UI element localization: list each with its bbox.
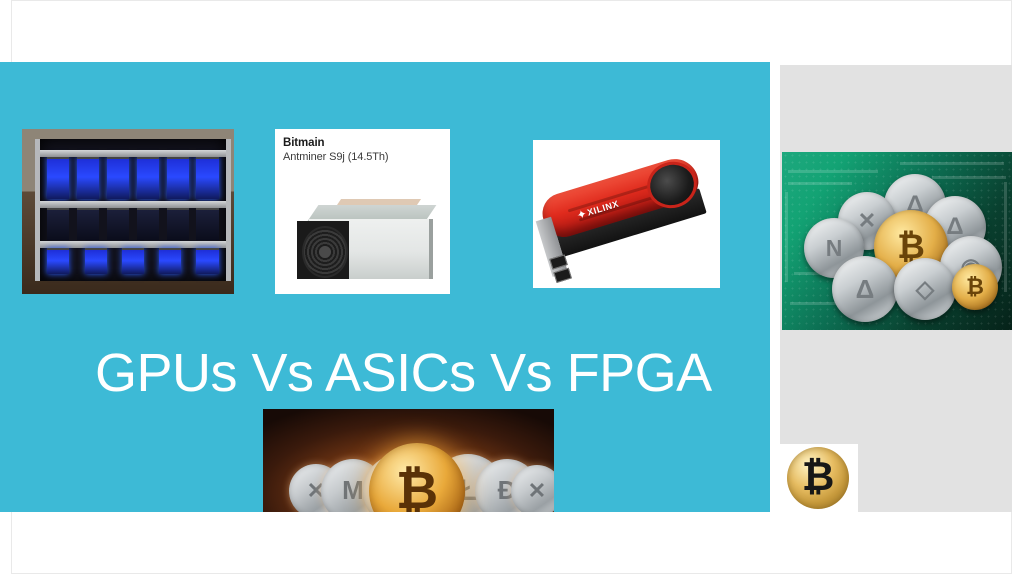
gpu-row-bottom: [47, 248, 219, 272]
gpu-card: [196, 157, 218, 199]
rig-shelf: [40, 241, 227, 248]
antminer-model-label: Antminer S9j (14.5Th): [283, 151, 444, 163]
page-title: GPUs Vs ASICs Vs FPGA: [95, 346, 735, 400]
fpga-card: ✦ XILINX: [535, 142, 720, 282]
gpu-card: [137, 208, 159, 240]
gpu-card: [159, 248, 181, 274]
crypto-coins-row-image: ✕ M Δ Ł Đ ✕ ₿: [263, 409, 554, 512]
gpu-card: [167, 208, 189, 240]
gpu-card: [167, 157, 189, 199]
gpu-card: [196, 248, 218, 274]
altcoin: Δ: [832, 256, 898, 322]
fan-icon: [302, 226, 348, 278]
slide-canvas: Bitmain Antminer S9j (14.5Th): [0, 0, 1024, 576]
gpu-card: [85, 248, 107, 274]
coin-pile: Δ ✕ Δ N ₿ ◉ Δ ◇ ₿: [782, 152, 1012, 330]
bitcoin-coin: ₿: [952, 264, 998, 310]
antminer-caption: Bitmain Antminer S9j (14.5Th): [283, 137, 444, 163]
gpu-card: [77, 208, 99, 240]
gpu-card: [47, 157, 69, 199]
rig-shelf: [40, 201, 227, 208]
antminer-fan-housing: [297, 221, 349, 279]
antminer-device: [297, 205, 437, 283]
gpu-card: [47, 248, 69, 274]
altcoin: ◇: [894, 258, 956, 320]
fpga-port: [553, 268, 572, 283]
xilinx-fpga-image: ✦ XILINX: [533, 140, 720, 288]
bitcoin-coin: ₿: [787, 447, 849, 509]
rig-frame: [35, 139, 232, 281]
gpu-row-top: [47, 157, 219, 197]
coins-on-circuit-board-image: Δ ✕ Δ N ₿ ◉ Δ ◇ ₿: [782, 152, 1012, 330]
gpu-card: [107, 208, 129, 240]
bitcoin-symbol-icon: ₿: [802, 457, 835, 497]
gpu-row-middle: [47, 208, 219, 238]
fpga-port: [549, 254, 568, 269]
bitmain-antminer-image: Bitmain Antminer S9j (14.5Th): [275, 129, 450, 294]
gpu-card: [47, 208, 69, 240]
gpu-mining-rig-image: [22, 129, 234, 294]
rig-shelf: [40, 150, 227, 157]
gpu-card: [122, 248, 144, 274]
gpu-card: [77, 157, 99, 199]
altcoin: ✕: [511, 465, 554, 513]
gpu-card: [196, 208, 218, 240]
bitcoin-coin: ₿: [369, 443, 465, 513]
antminer-brand-label: Bitmain: [283, 137, 444, 150]
slide-content-panel: Bitmain Antminer S9j (14.5Th): [0, 62, 770, 512]
gpu-card: [137, 157, 159, 199]
gpu-card: [107, 157, 129, 199]
fan-hub: [319, 246, 331, 258]
bitcoin-coin-thumbnail-image: ₿: [780, 444, 858, 512]
